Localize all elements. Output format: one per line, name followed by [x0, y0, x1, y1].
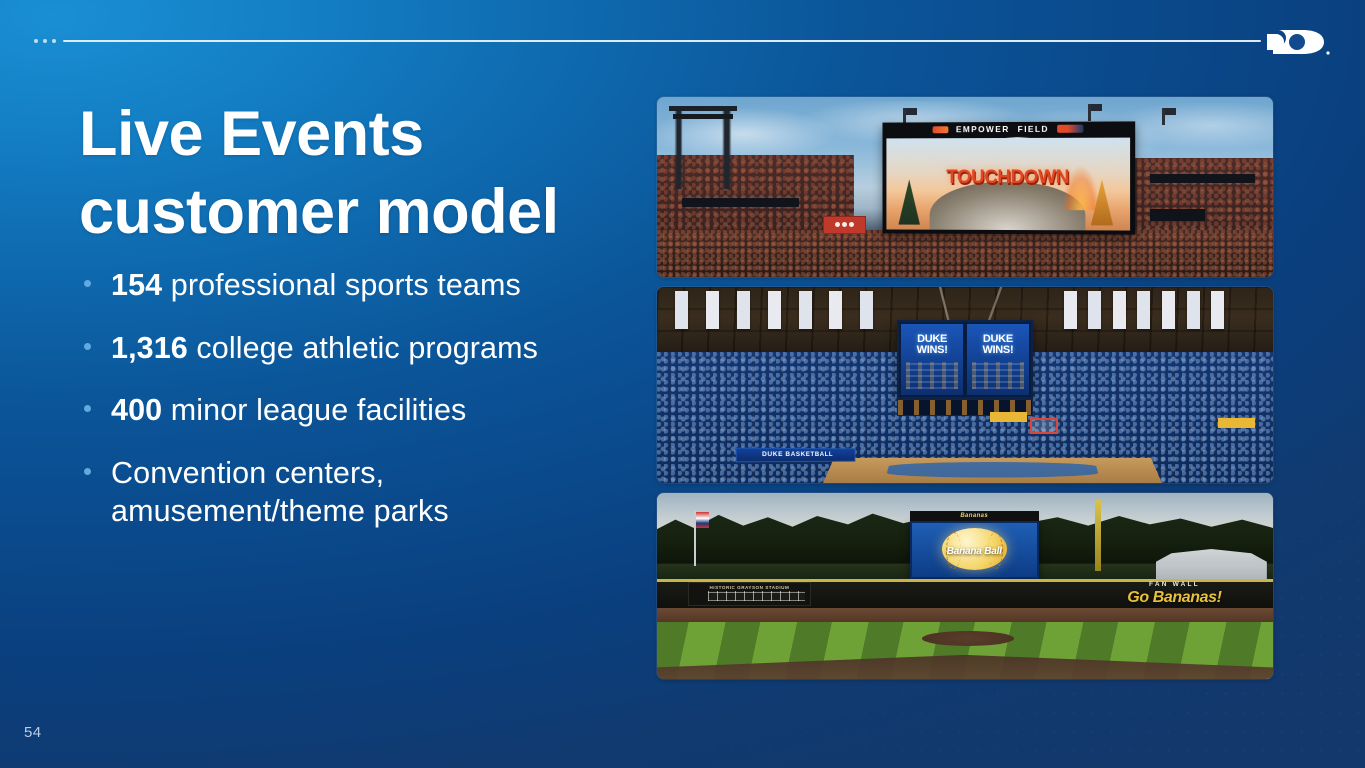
list-item: Convention centers, amusement/theme park… [78, 454, 668, 531]
videoboard-text: Banana Ball [912, 546, 1037, 557]
bullet-dot-icon [84, 405, 91, 412]
bullet-stat: 154 [111, 268, 162, 302]
bullet-text: college athletic programs [188, 331, 538, 365]
list-item: 1,316 college athletic programs [78, 329, 668, 368]
scoreboard-grid [708, 591, 805, 601]
stadium-scene: EMPOWER FIELD TOUCHDOWN [657, 97, 1273, 277]
page-number: 54 [24, 724, 42, 741]
page-title: Live Events customer model [79, 96, 679, 252]
arena-scene: DUKE WINS! DUKE WINS! DUKE BASKETBALL [657, 287, 1273, 483]
videoboard-header: EMPOWER FIELD [883, 122, 1135, 138]
daktronics-d-icon [1267, 21, 1339, 63]
bullet-stat: 400 [111, 393, 162, 427]
header-rule [34, 36, 1261, 46]
bullet-list: 154 professional sports teams 1,316 coll… [78, 266, 668, 531]
flagpole [694, 510, 696, 566]
bullet-dot-icon [84, 280, 91, 287]
courtside-ad [1218, 418, 1255, 428]
foul-pole [1095, 500, 1101, 571]
photo-column: EMPOWER FIELD TOUCHDOWN [657, 97, 1273, 679]
bullet-text-line2: amusement/theme parks [111, 492, 668, 531]
ribbon-board-right [1150, 174, 1255, 183]
courtside-ad [990, 412, 1027, 422]
bullet-stat: 1,316 [111, 331, 188, 365]
crowd-lower-bowl [657, 230, 1273, 277]
scoreboard-text-left: DUKE WINS! [901, 334, 963, 356]
bullet-text: Convention centers, [111, 456, 384, 490]
auxiliary-board-2 [1150, 209, 1205, 222]
title-line-2: customer model [79, 174, 679, 252]
basketball-hoop [1030, 418, 1058, 434]
manual-scoreboard: HISTORIC GRAYSON STADIUM [688, 582, 811, 606]
bullet-text: minor league facilities [162, 393, 466, 427]
videoboard-screen-text: TOUCHDOWN [887, 168, 1131, 190]
header-dots-icon [34, 39, 56, 43]
title-line-1: Live Events [79, 96, 679, 174]
ribbon-board-left [682, 198, 799, 207]
bullet-text: professional sports teams [162, 268, 521, 302]
sponsor-mark-icon [1057, 125, 1083, 133]
light-tower [669, 106, 737, 189]
courtside-sign: DUKE BASKETBALL [736, 447, 856, 461]
scoreboard-stats [906, 362, 958, 389]
list-item: 154 professional sports teams [78, 266, 668, 305]
videoboard-screen: TOUCHDOWN [887, 138, 1131, 230]
scoreboard-text-right: DUKE WINS! [967, 334, 1029, 356]
scoreboard-stats [972, 362, 1024, 389]
centerhung-scoreboard: DUKE WINS! DUKE WINS! [897, 320, 1033, 398]
flag [1162, 108, 1165, 125]
ballpark-scene: Bananas Banana Ball HISTORIC GRAYSON STA… [657, 493, 1273, 679]
header-divider-line [63, 40, 1261, 43]
slide: Live Events customer model 154 professio… [0, 0, 1365, 768]
scoreboard-title: HISTORIC GRAYSON STADIUM [689, 585, 810, 590]
main-videoboard: EMPOWER FIELD TOUCHDOWN [883, 122, 1135, 235]
board-header-left: EMPOWER [956, 124, 1010, 134]
list-item: 400 minor league facilities [78, 391, 668, 430]
bullet-dot-icon [84, 468, 91, 475]
photo-duke-basketball-arena: DUKE WINS! DUKE WINS! DUKE BASKETBALL [657, 287, 1273, 483]
warning-track [657, 608, 1273, 622]
fan-wall-text: Go Bananas! [1088, 589, 1260, 607]
flag [1088, 104, 1091, 121]
fan-wall-label: FAN WALL [1088, 581, 1260, 588]
outfield-videoboard: Banana Ball [910, 521, 1039, 579]
bullet-dot-icon [84, 343, 91, 350]
team-mark-icon [932, 126, 948, 133]
brand-logo [1267, 21, 1339, 63]
pitchers-mound [922, 631, 1014, 646]
photo-savannah-bananas-ballpark: Bananas Banana Ball HISTORIC GRAYSON STA… [657, 493, 1273, 679]
photo-football-stadium-touchdown: EMPOWER FIELD TOUCHDOWN [657, 97, 1273, 277]
fan-wall: FAN WALL Go Bananas! [1088, 581, 1260, 609]
scoreboard-panel-left: DUKE WINS! [901, 324, 963, 394]
basketball-court [823, 458, 1162, 483]
board-header-right: FIELD [1018, 124, 1049, 134]
scoreboard-panel-right: DUKE WINS! [967, 324, 1029, 394]
auxiliary-board [823, 216, 866, 234]
